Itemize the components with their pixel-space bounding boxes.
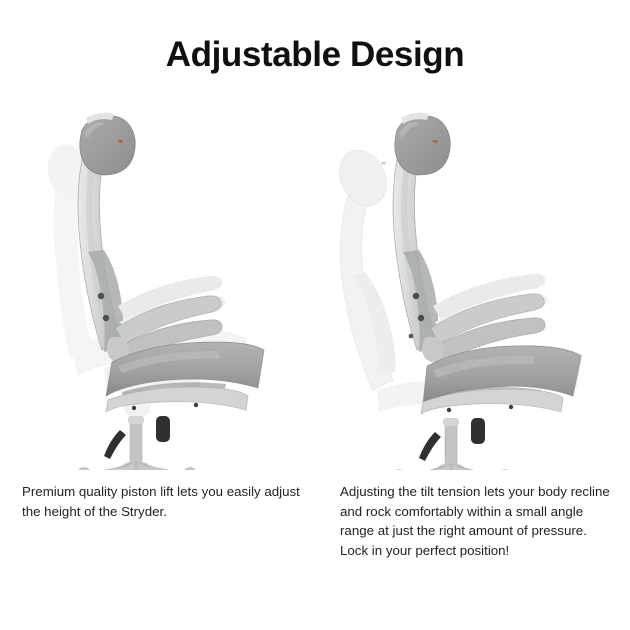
chair-illustration-height-adjustment — [0, 100, 315, 470]
tilt-tension-lever — [471, 418, 485, 444]
height-lever — [104, 430, 126, 459]
brand-accent-mark — [433, 140, 438, 143]
caption-row: Premium quality piston lift lets you eas… — [0, 482, 630, 622]
headrest — [80, 113, 136, 175]
page-title: Adjustable Design — [0, 34, 630, 76]
height-lever — [419, 432, 441, 461]
headrest — [395, 113, 451, 175]
chair-illustration-tilt-tension — [315, 100, 630, 470]
chair-panel-height-adjustment — [0, 100, 315, 470]
infographic-page: Adjustable Design — [0, 0, 630, 630]
brand-accent-mark — [118, 140, 123, 143]
gas-lift-cylinder — [128, 416, 144, 464]
caption-tilt-tension: Adjusting the tilt tension lets your bod… — [340, 482, 616, 560]
tilt-lever — [156, 416, 170, 442]
caster-base — [377, 463, 527, 470]
chair-panel-tilt-tension — [315, 100, 630, 470]
illustration-band — [0, 100, 630, 470]
gas-lift-cylinder — [443, 418, 459, 466]
caption-height-adjustment: Premium quality piston lift lets you eas… — [22, 482, 310, 521]
